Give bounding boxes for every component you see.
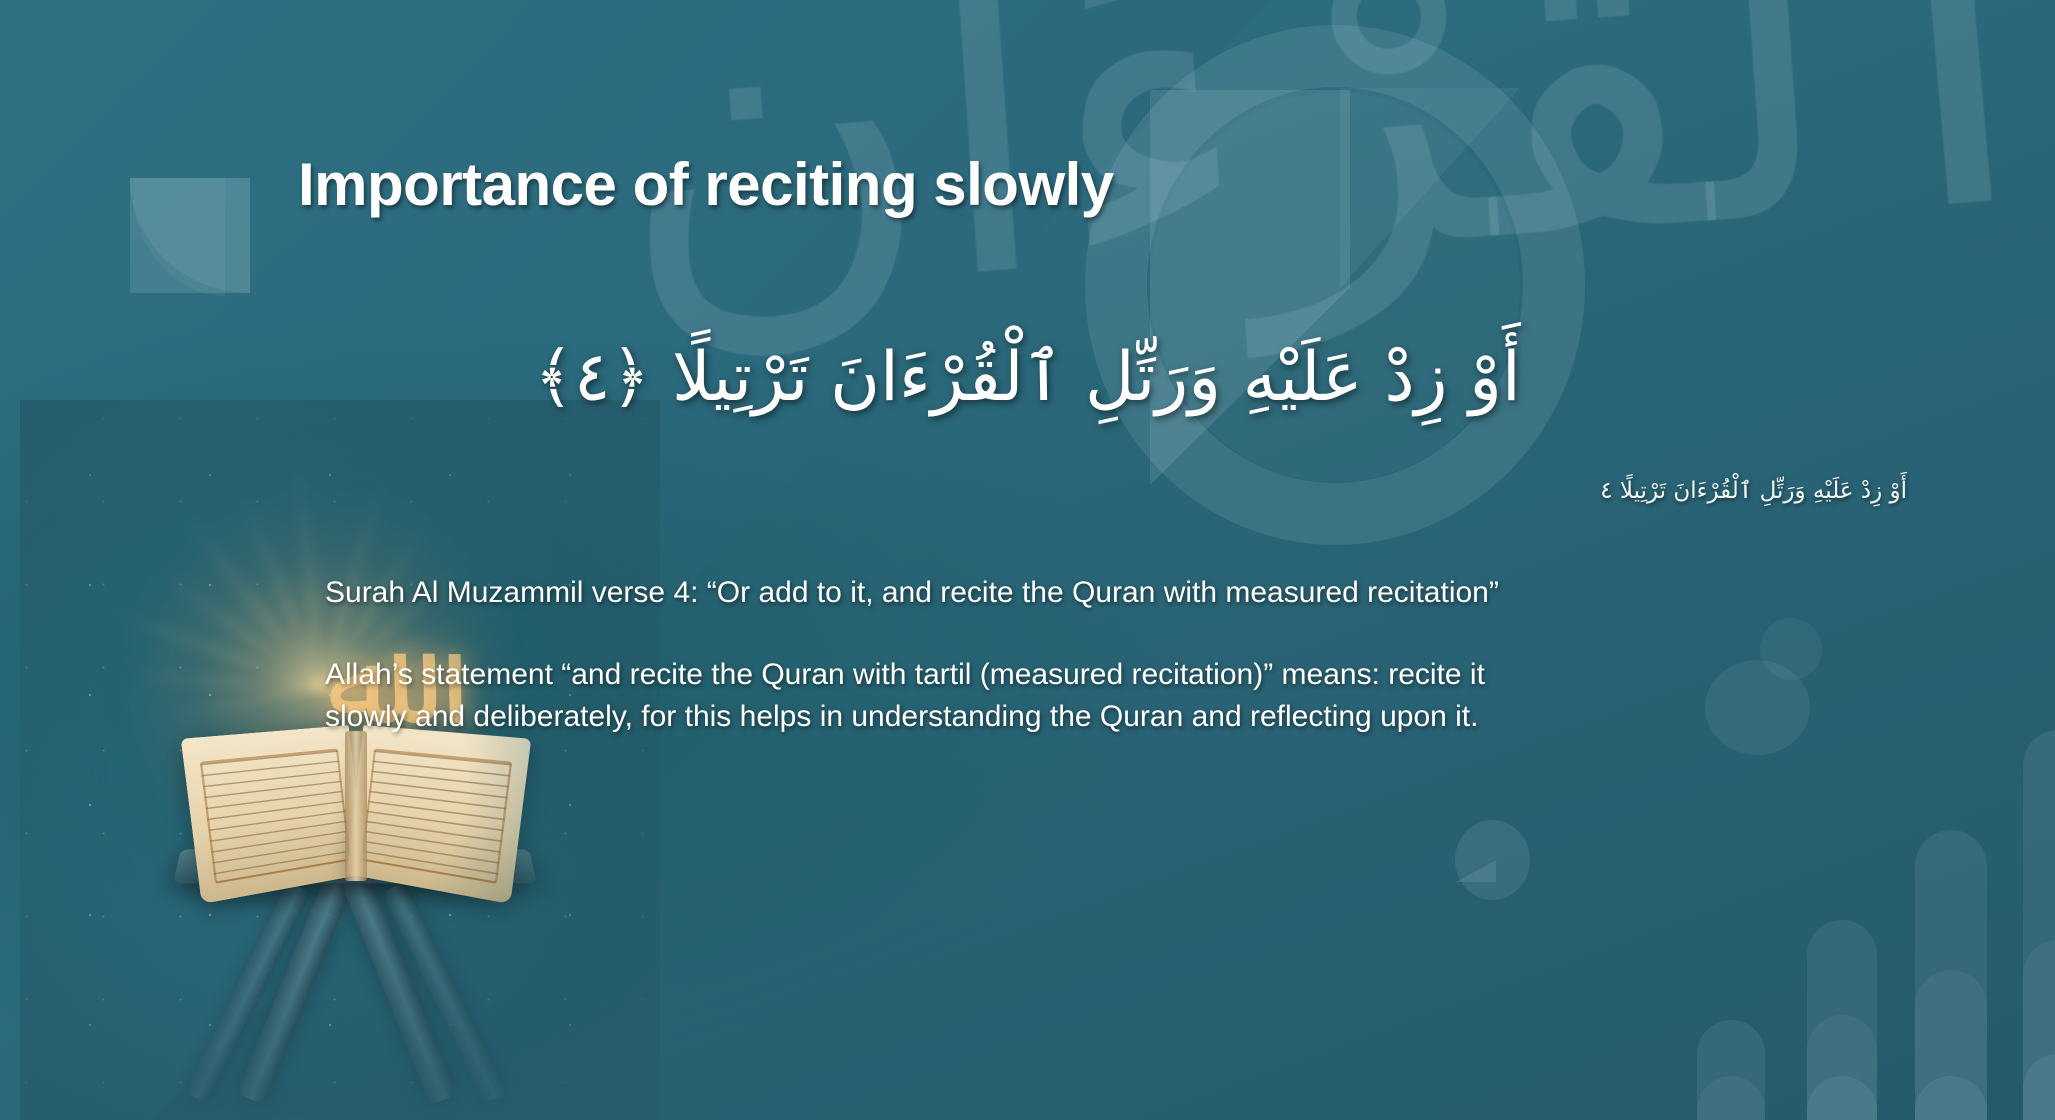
presentation-slide: ٱلْقُرْءَان — [0, 0, 2055, 1120]
slide-body-text: Surah Al Muzammil verse 4: “Or add to it… — [325, 572, 1855, 738]
slide-title: Importance of reciting slowly — [298, 150, 1114, 219]
verse-reference-line: Surah Al Muzammil verse 4: “Or add to it… — [325, 572, 1855, 614]
explanation-line-2: slowly and deliberately, for this helps … — [325, 696, 1855, 738]
explanation-paragraph: Allah’s statement “and recite the Quran … — [325, 654, 1855, 738]
slide-content: Importance of reciting slowly أَوْ زِدْ … — [0, 0, 2055, 1120]
quran-verse-arabic-small: أَوْ زِدْ عَلَيْهِ وَرَتِّلِ ٱلْقُرْءَان… — [1600, 478, 1907, 504]
explanation-line-1: Allah’s statement “and recite the Quran … — [325, 654, 1855, 696]
quran-verse-arabic: أَوْ زِدْ عَلَيْهِ وَرَتِّلِ ٱلْقُرْءَان… — [0, 332, 2055, 424]
